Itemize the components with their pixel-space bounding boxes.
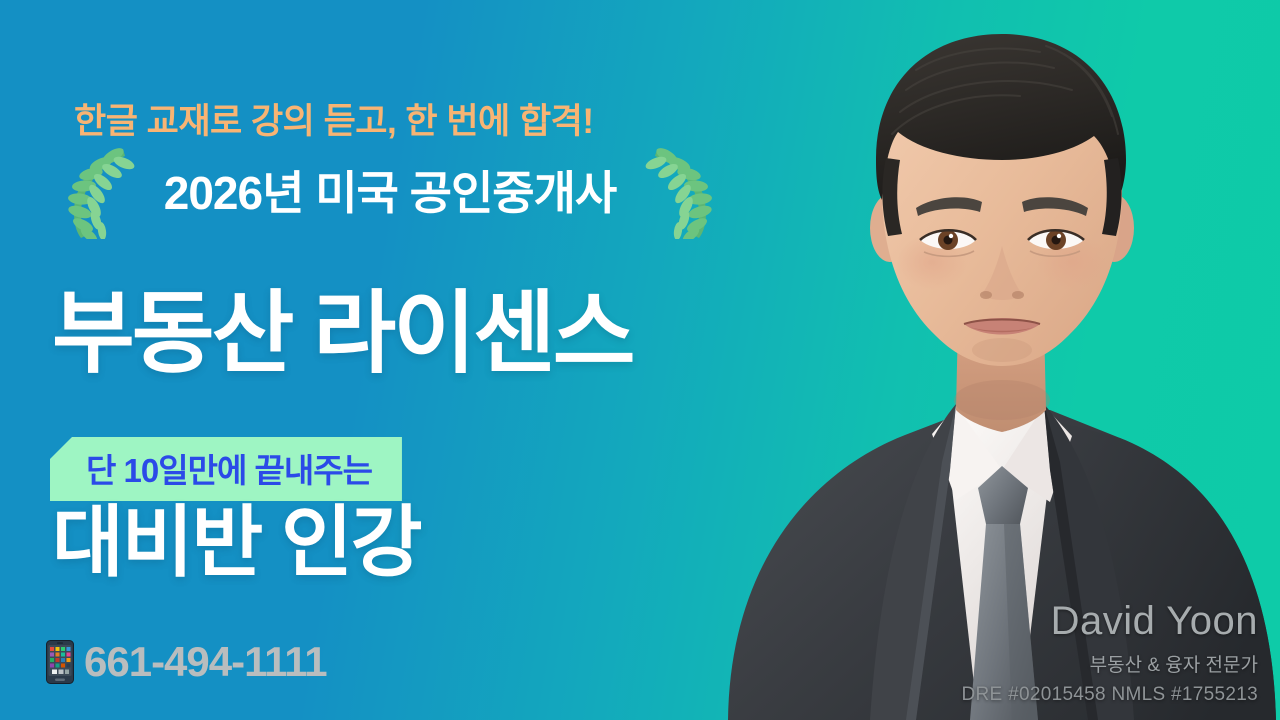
promotional-banner: 한글 교재로 강의 듣고, 한 번에 합격! xyxy=(0,0,1280,720)
phone-number: 661-494-1111 xyxy=(84,638,327,686)
laurel-wreath-right-icon xyxy=(642,143,720,239)
award-title: 2026년 미국 공인중개사 xyxy=(60,157,720,223)
mobile-phone-icon xyxy=(46,640,74,684)
promo-tagline: 한글 교재로 강의 듣고, 한 번에 합격! xyxy=(74,93,594,144)
agent-license-numbers: DRE #02015458 NMLS #1755213 xyxy=(962,684,1258,706)
sub-headline: 대비반 인강 xyxy=(52,503,420,581)
duration-badge: 단 10일만에 끝내주는 xyxy=(50,437,402,501)
agent-role: 부동산 & 융자 전문가 xyxy=(962,650,1258,677)
main-headline: 부동산 라이센스 xyxy=(52,289,633,379)
agent-credentials: David Yoon 부동산 & 융자 전문가 DRE #02015458 NM… xyxy=(962,600,1258,706)
award-title-row: 2026년 미국 공인중개사 xyxy=(60,143,720,239)
promo-text-column: 한글 교재로 강의 듣고, 한 번에 합격! xyxy=(0,0,790,720)
contact-phone-row[interactable]: 661-494-1111 xyxy=(46,638,327,686)
agent-name: David Yoon xyxy=(962,600,1258,642)
